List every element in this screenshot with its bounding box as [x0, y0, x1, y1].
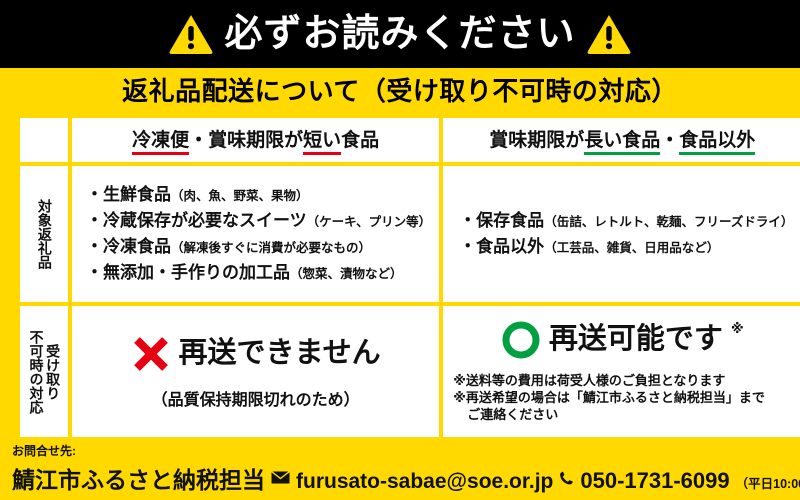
list-item-sub: （解凍後すぐに消費が必要なもの）: [171, 241, 371, 256]
column-header-right-part3: ・: [660, 130, 679, 151]
result-cell-right: 再送可能です ※ ※送料等の費用は荷受人様のご負担となります ※再送希望の場合は…: [443, 306, 800, 437]
list-item-main: ・食品以外: [459, 237, 544, 257]
column-header-left-part2: ・賞味期限が: [189, 130, 303, 151]
circle-mark-icon: [501, 320, 541, 360]
row-label-target-items: 対象返礼品: [20, 166, 68, 302]
column-header-left: 冷凍便・賞味期限が短い食品: [72, 118, 439, 162]
note-line: ご連絡ください: [453, 406, 765, 423]
column-header-right: 賞味期限が長い食品・食品以外: [443, 118, 800, 162]
contact-email[interactable]: furusato-sabae@soe.or.jp: [296, 470, 553, 494]
column-header-left-part3: 短い: [303, 130, 341, 155]
contact-hours: （平日10:00-17:00対応）: [736, 473, 800, 492]
contact-phone[interactable]: 050-1731-6099: [580, 468, 729, 494]
result-left-headline: 再送できません: [179, 339, 381, 368]
list-item: ・冷蔵保存が必要なスイーツ（ケーキ、プリン等）: [86, 211, 431, 231]
result-right-notes: ※送料等の費用は荷受人様のご負担となります ※再送希望の場合は「鯖江市ふるさと納…: [453, 372, 765, 423]
column-header-left-part1: 冷凍便: [132, 130, 189, 155]
footer-contact: お問合せ先: 鯖江市ふるさと納税担当 furusato-sabae@soe.or…: [0, 441, 800, 500]
row-label-undeliverable-col1: 受け取り: [45, 344, 61, 400]
row-label-undeliverable-response: 受け取り 不可時の対応: [20, 306, 68, 437]
column-header-right-part4: 食品以外: [679, 130, 755, 155]
list-item: ・食品以外（工芸品、雑貨、日用品など）: [459, 237, 793, 257]
note-line: ※送料等の費用は荷受人様のご負担となります: [453, 372, 765, 389]
page-title: 必ずお読みください: [224, 15, 575, 53]
warning-triangle-icon: [586, 13, 632, 55]
row-label-target-items-text: 対象返礼品: [36, 199, 52, 269]
cross-mark-icon: [131, 334, 171, 374]
header-banner: 必ずお読みください: [0, 0, 800, 68]
poster-root: 必ずお読みください 返礼品配送について（受け取り不可時の対応） 冷凍便・賞味期限…: [0, 0, 800, 500]
result-right-headline-row: 再送可能です ※: [501, 320, 744, 360]
subtitle-text: 返礼品配送について（受け取り不可時の対応）: [122, 78, 678, 104]
result-left-note: （品質保持期限切れのため）: [152, 386, 360, 410]
contact-department: 鯖江市ふるさと納税担当: [12, 461, 265, 495]
list-item-sub: （缶詰、レトルト、乾麺、フリーズドライ）: [544, 215, 793, 230]
result-left-headline-row: 再送できません: [131, 334, 381, 374]
note-line: ※再送希望の場合は「鯖江市ふるさと納税担当」まで: [453, 389, 765, 406]
list-item-main: ・無添加・手作りの加工品: [86, 263, 290, 283]
column-header-right-part2: 長い食品: [584, 130, 660, 155]
list-item-sub: （工芸品、雑貨、日用品など）: [544, 241, 719, 256]
comparison-table: 冷凍便・賞味期限が短い食品 賞味期限が長い食品・食品以外 対象返礼品 ・生鮮食品…: [20, 118, 780, 437]
column-header-right-part1: 賞味期限が: [489, 130, 584, 151]
list-item: ・保存食品（缶詰、レトルト、乾麺、フリーズドライ）: [459, 211, 793, 231]
list-item-main: ・冷凍食品: [86, 237, 171, 257]
table-corner-cell: [20, 118, 68, 162]
result-cell-left: 再送できません （品質保持期限切れのため）: [72, 306, 439, 437]
envelope-icon: [271, 471, 290, 484]
target-items-left-list: ・生鮮食品（肉、魚、野菜、果物） ・冷蔵保存が必要なスイーツ（ケーキ、プリン等）…: [72, 166, 439, 302]
result-right-headline: 再送可能です: [549, 325, 723, 354]
list-item-main: ・生鮮食品: [86, 185, 171, 205]
list-item-main: ・冷蔵保存が必要なスイーツ: [86, 211, 307, 231]
result-right-asterisk: ※: [731, 322, 744, 335]
target-items-right-list: ・保存食品（缶詰、レトルト、乾麺、フリーズドライ） ・食品以外（工芸品、雑貨、日…: [443, 166, 800, 302]
list-item-main: ・保存食品: [459, 211, 544, 231]
contact-details-row: 鯖江市ふるさと納税担当 furusato-sabae@soe.or.jp 050…: [12, 461, 788, 495]
list-item: ・冷凍食品（解凍後すぐに消費が必要なもの）: [86, 237, 431, 257]
warning-triangle-icon: [168, 13, 214, 55]
list-item: ・生鮮食品（肉、魚、野菜、果物）: [86, 185, 431, 205]
list-item: ・無添加・手作りの加工品（惣菜、漬物など）: [86, 263, 431, 283]
list-item-sub: （肉、魚、野菜、果物）: [171, 189, 309, 204]
list-item-sub: （惣菜、漬物など）: [290, 267, 403, 282]
row-label-undeliverable-col2: 不可時の対応: [28, 330, 44, 414]
column-header-left-part4: 食品: [341, 130, 379, 151]
contact-label: お問合せ先:: [12, 444, 788, 460]
telephone-icon: [559, 470, 574, 486]
list-item-sub: （ケーキ、プリン等）: [307, 215, 432, 230]
subtitle-banner: 返礼品配送について（受け取り不可時の対応）: [0, 68, 800, 114]
